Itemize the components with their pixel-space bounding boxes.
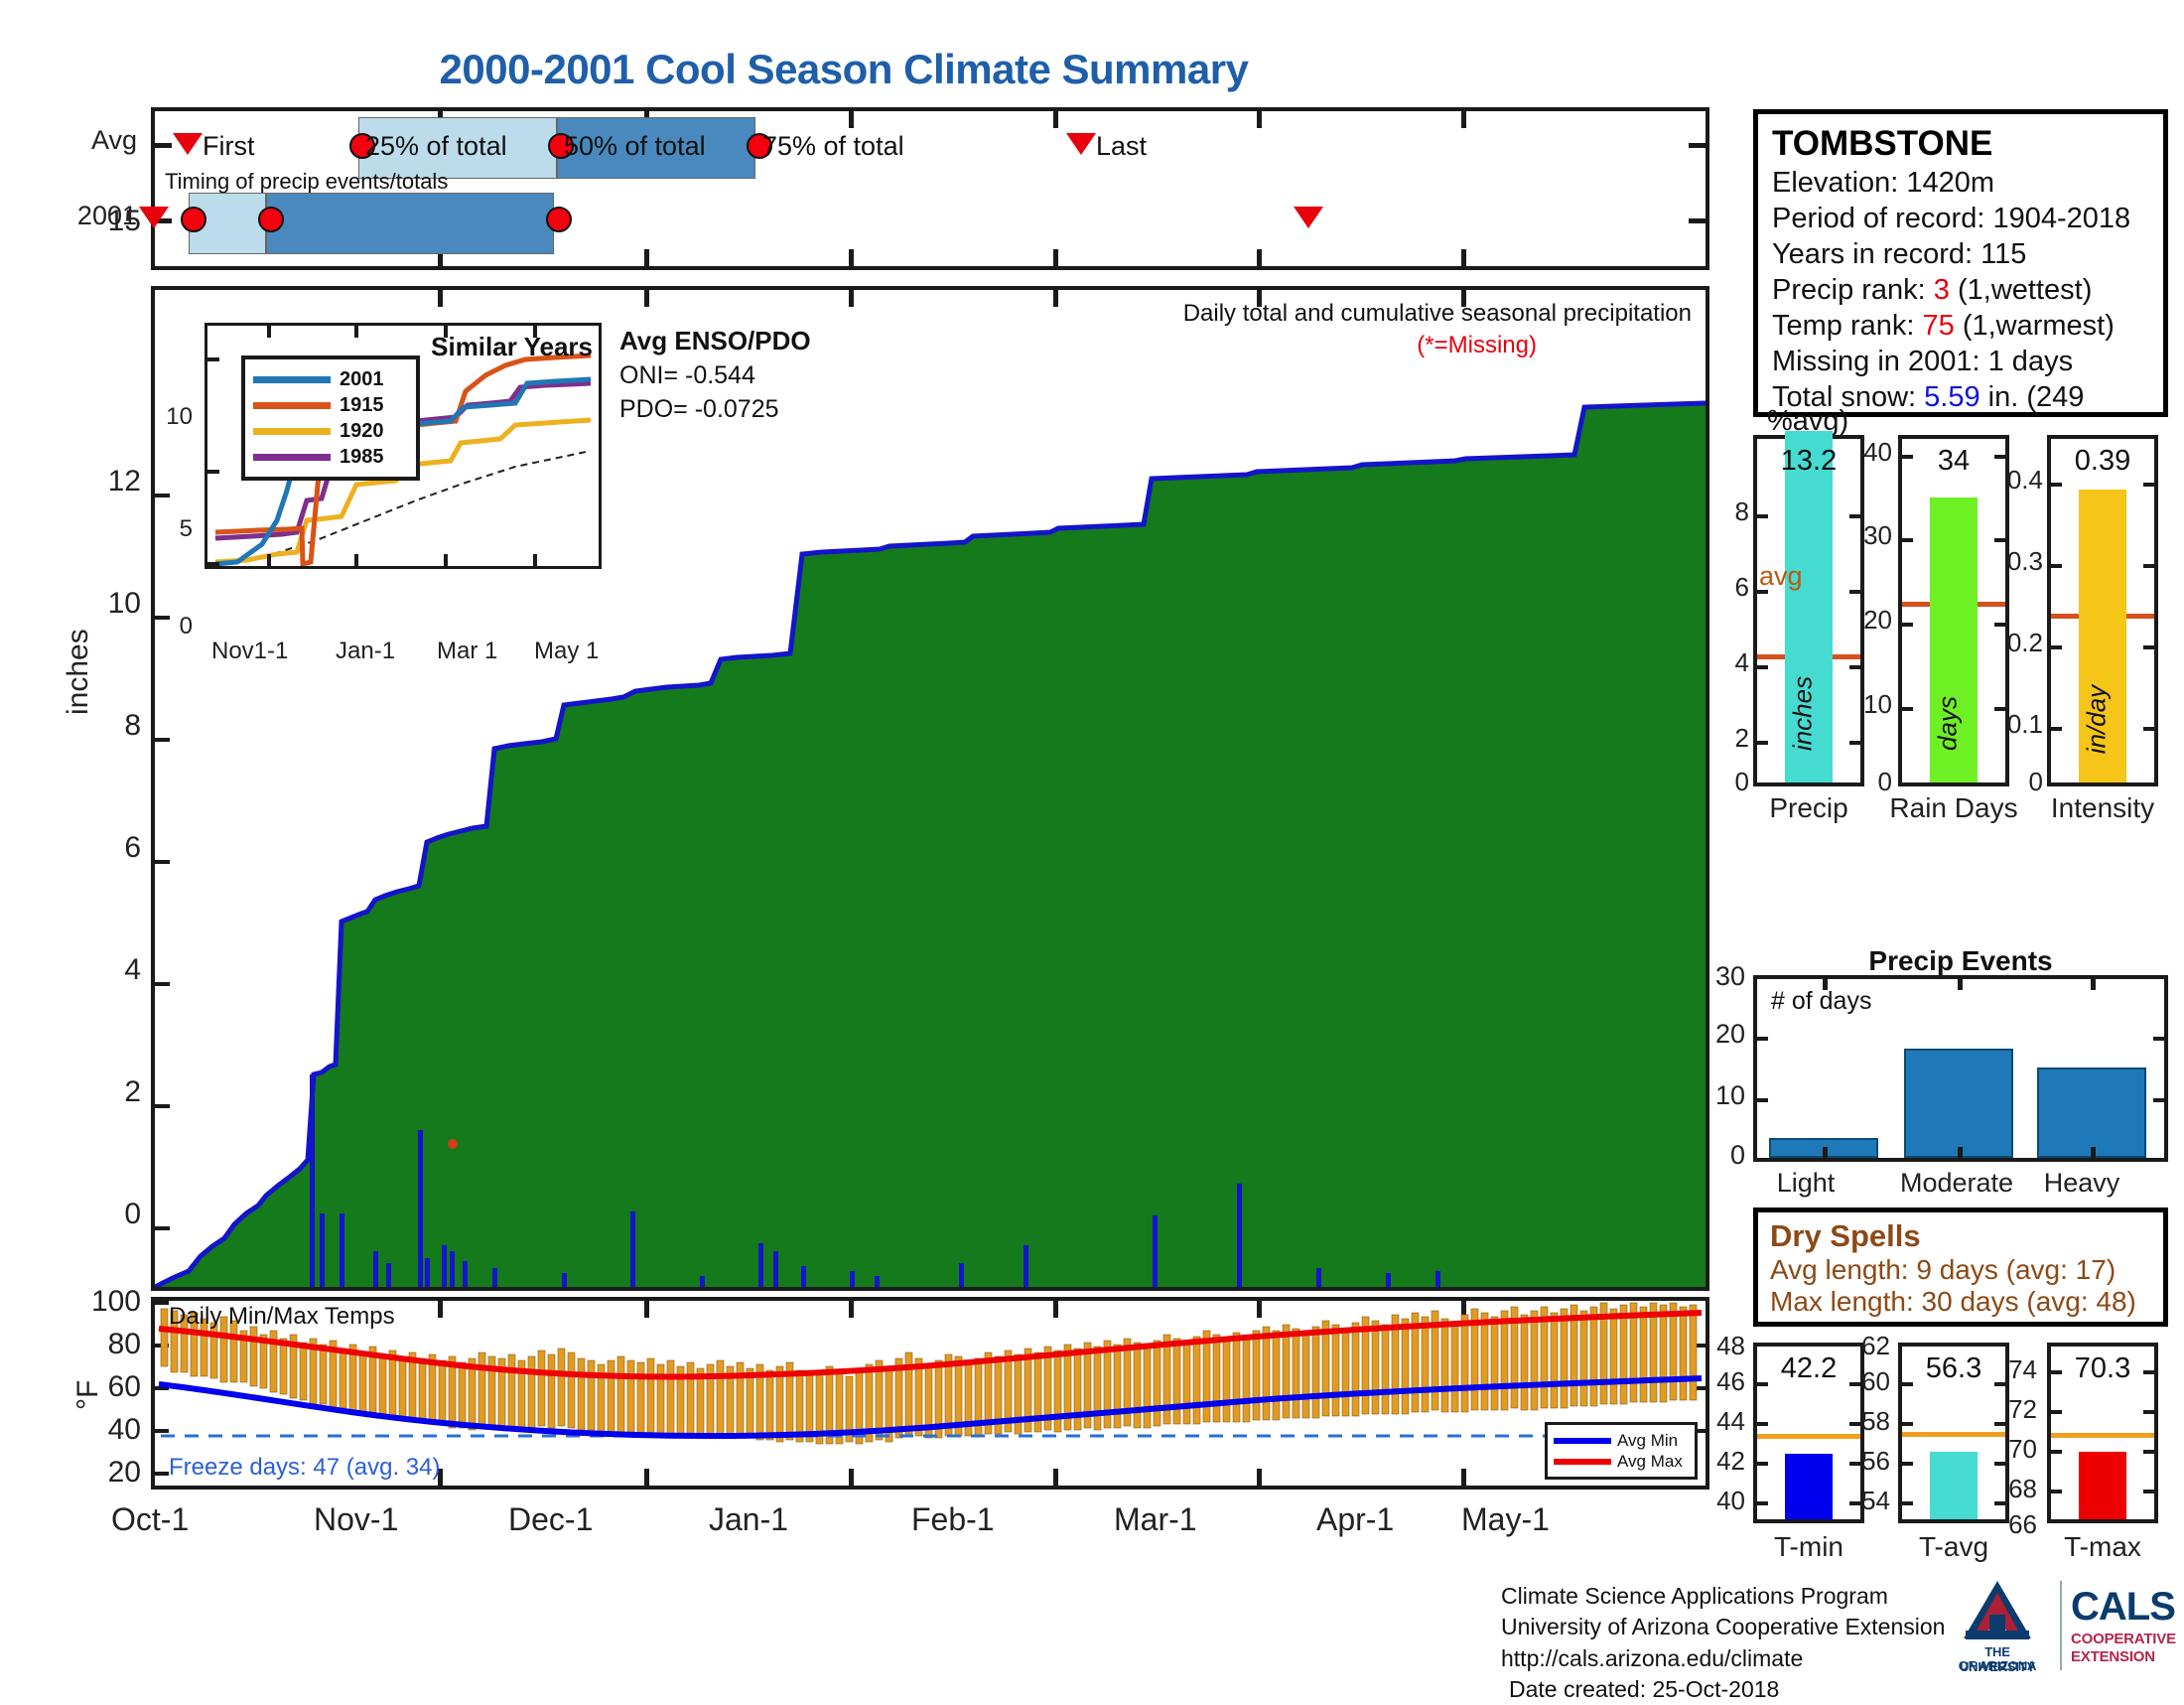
tavg-ytick-54: 54: [1843, 1486, 1890, 1516]
intensity-ytick-03: 0.3: [1981, 546, 2043, 577]
xtick-oct: Oct-1: [111, 1501, 189, 1538]
legend-item-avg-min: Avg Min: [1554, 1430, 1689, 1451]
inset-ytick-5: 5: [149, 515, 193, 543]
credits-block: Climate Science Applications Program Uni…: [1501, 1581, 1945, 1705]
credits-line-2: University of Arizona Cooperative Extens…: [1501, 1612, 1945, 1642]
legend-swatch-avg-max: [1554, 1459, 1611, 1465]
info-temp-rank: Temp rank: 75 (1,warmest): [1772, 309, 2149, 345]
page-title: 2000-2001 Cool Season Climate Summary: [0, 46, 1688, 93]
tavg-ytick-58: 58: [1843, 1406, 1890, 1437]
stat-panel-intensity: 0.39 in/day: [2047, 435, 2158, 786]
info-period-label: Period of record:: [1772, 203, 1992, 234]
credits-line-1: Climate Science Applications Program: [1501, 1581, 1945, 1612]
logo-divider: [2060, 1581, 2062, 1670]
inset-xtick-may: May 1: [534, 638, 599, 665]
tmin-ytick-44: 44: [1702, 1406, 1745, 1437]
university-of-arizona-logo-icon: [1946, 1579, 2049, 1642]
precip-ytick-6: 6: [71, 831, 141, 865]
intensity-ytick-01: 0.1: [1981, 709, 2043, 740]
y2001-last-event-marker: [1294, 207, 1323, 228]
tmax-ytick-66: 66: [1989, 1509, 2037, 1540]
rain-days-ytick-30: 30: [1848, 520, 1892, 551]
precip-timing-panel: First 25% of total 50% of total 75% of t…: [151, 107, 1709, 270]
tmin-ytick-48: 48: [1702, 1331, 1745, 1361]
y2001-first-event-marker: [139, 207, 169, 228]
precip-ytick-4: 4: [1711, 647, 1749, 678]
tmax-xlabel: T-max: [2047, 1531, 2158, 1563]
precip-ytick-6: 6: [1711, 572, 1749, 603]
tmax-ytick-74: 74: [1989, 1354, 2037, 1385]
freeze-days-note: Freeze days: 47 (avg. 34): [169, 1454, 440, 1482]
station-name: TOMBSTONE: [1772, 124, 2149, 164]
legend-item-1985: 1985: [253, 444, 408, 470]
tmax-avg-line: [2051, 1433, 2154, 1438]
info-elevation-value: 1420m: [1906, 167, 1994, 199]
temp-ytick-80: 80: [77, 1328, 141, 1361]
precip-missing-note: (*=Missing): [1417, 332, 1537, 359]
tavg-ytick-60: 60: [1843, 1366, 1890, 1397]
precip-ytick-4: 4: [71, 953, 141, 987]
info-missing: Missing in 2001: 1 days: [1772, 345, 2149, 380]
tmax-ytick-70: 70: [1989, 1434, 2037, 1465]
precip-note: Daily total and cumulative seasonal prec…: [1183, 300, 1692, 328]
label-first: First: [203, 131, 254, 162]
info-elevation-label: Elevation:: [1772, 167, 1906, 199]
tavg-bar: [1930, 1452, 1978, 1519]
temp-axis-label: °F: [71, 1380, 105, 1410]
logo-area: THE UNIVERSITY OF ARIZONA CALS COOPERATI…: [1946, 1579, 2174, 1678]
pe-xlabel-moderate: Moderate: [1876, 1168, 2037, 1199]
info-years: Years in record: 115: [1772, 237, 2149, 273]
info-missing-value: 1 days: [1988, 346, 2073, 377]
precip-events-note: # of days: [1771, 987, 1871, 1016]
enso-oni: ONI= -0.544: [619, 361, 917, 390]
tmax-ytick-72: 72: [1989, 1394, 2037, 1425]
y2001-25pct-dot: [181, 207, 206, 232]
inset-xtick-jan: Jan-1: [336, 638, 395, 665]
dry-spells-avg: Avg length: 9 days (avg: 17): [1770, 1254, 2151, 1286]
inset-ytick-0: 0: [149, 613, 193, 640]
precip-events-title: Precip Events: [1753, 945, 2168, 977]
info-missing-label: Missing in 2001:: [1772, 346, 1988, 377]
precip-events-bar-heavy: [2037, 1067, 2146, 1158]
credits-line-4: Date created: 25-Oct-2018: [1501, 1674, 1945, 1705]
info-temp-rank-value: 75: [1923, 310, 1955, 342]
stat-panel-tmax: 70.3: [2047, 1343, 2158, 1523]
temp-legend: Avg Min Avg Max: [1545, 1422, 1698, 1480]
precip-ytick-15: 15: [71, 205, 141, 238]
rain-days-ytick-0: 0: [1848, 767, 1892, 797]
precip-value: 13.2: [1757, 445, 1860, 478]
legend-swatch-1920: [253, 428, 331, 435]
info-period-value: 1904-2018: [1992, 203, 2130, 234]
legend-label-1985: 1985: [340, 446, 384, 469]
tmin-xlabel: T-min: [1753, 1531, 1864, 1563]
timing-caption: Timing of precip events/totals: [165, 169, 448, 195]
legend-label-1920: 1920: [340, 420, 384, 443]
xtick-mar: Mar-1: [1114, 1501, 1197, 1538]
intensity-ytick-04: 0.4: [1981, 465, 2043, 496]
info-elevation: Elevation: 1420m: [1772, 166, 2149, 202]
enso-title: Avg ENSO/PDO: [619, 326, 917, 356]
similar-years-inset: Similar Years 2001 1915 1920 1985: [205, 323, 602, 569]
inset-title: Similar Years: [431, 332, 593, 362]
cals-logo-sub2: EXTENSION: [2071, 1648, 2155, 1665]
cals-logo-sub1: COOPERATIVE: [2071, 1631, 2176, 1647]
legend-swatch-2001: [253, 376, 331, 383]
temp-ytick-40: 40: [77, 1413, 141, 1447]
y2001-50pct-dot: [258, 207, 284, 232]
inset-legend: 2001 1915 1920 1985: [241, 355, 420, 481]
tmin-ytick-46: 46: [1702, 1366, 1745, 1397]
legend-item-1920: 1920: [253, 418, 408, 444]
tmin-bar: [1785, 1454, 1833, 1519]
inset-xtick-mar: Mar 1: [437, 638, 497, 665]
legend-item-1915: 1915: [253, 392, 408, 418]
station-info-box: TOMBSTONE Elevation: 1420m Period of rec…: [1753, 109, 2168, 417]
daily-temps-chart: Daily Min/Max Temps Freeze days: 47 (avg…: [151, 1297, 1709, 1490]
dry-spells-title: Dry Spells: [1770, 1218, 2151, 1254]
rain-days-ytick-40: 40: [1848, 437, 1892, 468]
y2001-50pct-segment: [266, 193, 554, 254]
precip-ytick-8: 8: [1711, 497, 1749, 527]
precip-ytick-12: 12: [71, 465, 141, 498]
avg-last-event-marker: [1066, 133, 1096, 155]
xtick-apr: Apr-1: [1316, 1501, 1394, 1538]
xtick-feb: Feb-1: [911, 1501, 995, 1538]
credits-line-3[interactable]: http://cals.arizona.edu/climate: [1501, 1643, 1945, 1674]
precip-ytick-0: 0: [71, 1198, 141, 1231]
label-25pct: 25% of total: [365, 131, 507, 162]
tavg-ytick-56: 56: [1843, 1446, 1890, 1477]
pe-xlabel-light: Light: [1749, 1168, 1862, 1199]
label-50pct: 50% of total: [564, 131, 706, 162]
tmax-value: 70.3: [2051, 1352, 2154, 1385]
cals-logo-text: CALS: [2071, 1585, 2175, 1630]
precip-ytick-10: 10: [71, 587, 141, 621]
enso-pdo-box: Avg ENSO/PDO ONI= -0.544 PDO= -0.0725: [619, 326, 917, 424]
legend-swatch-1915: [253, 402, 331, 409]
legend-item-2001: 2001: [253, 366, 408, 392]
temp-ytick-20: 20: [77, 1456, 141, 1490]
xtick-nov: Nov-1: [314, 1501, 398, 1538]
info-period: Period of record: 1904-2018: [1772, 202, 2149, 237]
intensity-ytick-02: 0.2: [1981, 628, 2043, 658]
pe-xlabel-heavy: Heavy: [2021, 1168, 2142, 1199]
pe-ytick-20: 20: [1700, 1019, 1745, 1050]
precip-avg-label: avg: [1759, 561, 1803, 592]
label-75pct: 75% of total: [762, 131, 904, 162]
pe-ytick-10: 10: [1700, 1080, 1745, 1111]
info-precip-rank: Precip rank: 3 (1,wettest): [1772, 273, 2149, 309]
legend-label-2001: 2001: [340, 368, 384, 391]
legend-item-avg-max: Avg Max: [1554, 1451, 1689, 1472]
precip-ytick-2: 2: [71, 1075, 141, 1109]
inset-ytick-10: 10: [149, 403, 193, 431]
intensity-unit: in/day: [2082, 665, 2113, 775]
xtick-jan: Jan-1: [709, 1501, 788, 1538]
inset-xtick-nov: Nov1-1: [211, 638, 288, 665]
tmin-ytick-42: 42: [1702, 1446, 1745, 1477]
precip-events-bar-moderate: [1904, 1049, 2013, 1158]
precip-axis-label: inches: [62, 629, 95, 715]
rain-days-ytick-10: 10: [1848, 689, 1892, 720]
avg-first-event-marker: [173, 133, 203, 155]
temp-ytick-100: 100: [77, 1285, 141, 1319]
legend-label-1915: 1915: [340, 394, 384, 417]
dry-spells-box: Dry Spells Avg length: 9 days (avg: 17) …: [1753, 1208, 2168, 1327]
temp-note: Daily Min/Max Temps: [169, 1303, 395, 1331]
info-precip-rank-suffix: (1,wettest): [1950, 274, 2092, 306]
pe-ytick-0: 0: [1700, 1140, 1745, 1171]
legend-swatch-avg-min: [1554, 1438, 1611, 1444]
precip-events-chart: # of days: [1753, 975, 2168, 1162]
info-temp-rank-suffix: (1,warmest): [1955, 310, 2115, 342]
tavg-ytick-62: 62: [1843, 1331, 1890, 1361]
timing-row-label-avg: Avg: [18, 125, 137, 156]
rain-days-unit: days: [1933, 669, 1964, 779]
y2001-75pct-dot: [546, 207, 572, 232]
info-years-label: Years in record:: [1772, 238, 1980, 270]
info-snow-suffix: in. (249: [1980, 381, 2085, 413]
precip-ytick-2: 2: [1711, 723, 1749, 754]
pe-ytick-30: 30: [1700, 961, 1745, 992]
info-snow-value: 5.59: [1924, 381, 1979, 413]
intensity-xlabel: Intensity: [2037, 792, 2168, 824]
precip-ytick-0: 0: [1711, 767, 1749, 797]
info-precip-rank-label: Precip rank:: [1772, 274, 1934, 306]
xtick-may: May-1: [1461, 1501, 1550, 1538]
info-years-value: 115: [1980, 238, 2026, 270]
tmax-bar: [2079, 1452, 2126, 1519]
tmin-ytick-40: 40: [1702, 1486, 1745, 1516]
rain-days-ytick-20: 20: [1848, 605, 1892, 636]
info-precip-rank-value: 3: [1934, 274, 1950, 306]
ua-logo-line2: OF ARIZONA: [1946, 1658, 2049, 1673]
enso-pdo: PDO= -0.0725: [619, 395, 917, 424]
info-temp-rank-label: Temp rank:: [1772, 310, 1923, 342]
tmax-ytick-68: 68: [1989, 1474, 2037, 1504]
intensity-value: 0.39: [2051, 445, 2154, 478]
legend-swatch-1985: [253, 454, 331, 461]
precip-unit: inches: [1788, 659, 1819, 769]
legend-label-avg-min: Avg Min: [1617, 1431, 1678, 1451]
label-last: Last: [1096, 131, 1147, 162]
dry-spells-max: Max length: 30 days (avg: 48): [1770, 1286, 2151, 1318]
legend-label-avg-max: Avg Max: [1617, 1452, 1683, 1472]
xtick-dec: Dec-1: [508, 1501, 593, 1538]
